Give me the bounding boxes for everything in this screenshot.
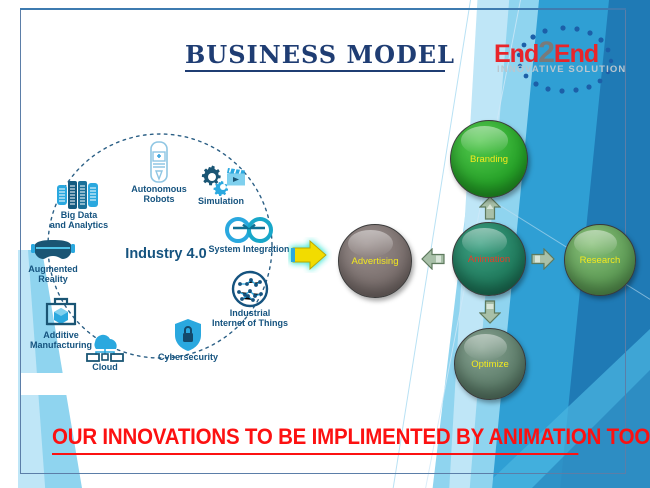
- footer-banner: OUR INNOVATIONS TO BE IMPLIMENTED BY ANI…: [52, 424, 578, 455]
- wheel-node-label: Branding: [470, 154, 508, 165]
- wheel-node-optimize[interactable]: Optimize: [454, 328, 526, 400]
- wheel-node-advertising[interactable]: Advertising: [338, 224, 412, 298]
- vr-headset-icon: [30, 236, 76, 264]
- robot-icon: [144, 140, 174, 184]
- yellow-right-arrow-icon: [288, 237, 332, 273]
- wheel-node-label: Optimize: [471, 359, 508, 370]
- node-label: Augmented Reality: [10, 265, 96, 284]
- node-label: Cloud: [76, 363, 134, 373]
- wheel-node-label: Advertising: [352, 256, 399, 267]
- wheel-node-research[interactable]: Research: [564, 224, 636, 296]
- bg-panel-right-wedge-2: [500, 300, 650, 488]
- node-simulation[interactable]: Simulation: [178, 164, 264, 207]
- slide-canvas: BUSINESS MODEL End2End INNOVATIVE SOLUTI…: [0, 0, 650, 488]
- wheel-node-animation[interactable]: Animation: [452, 222, 526, 296]
- page-title: BUSINESS MODEL: [185, 40, 445, 72]
- node-label: Cybersecurity: [150, 353, 226, 363]
- node-cloud[interactable]: Cloud: [76, 326, 134, 373]
- wheel-node-label: Research: [580, 255, 621, 266]
- arrow-right-icon: [531, 248, 555, 270]
- 3d-print-icon: [42, 296, 80, 330]
- node-big-data-analytics[interactable]: Big Data and Analytics: [27, 180, 131, 230]
- slide-top-rule: [20, 8, 626, 10]
- node-label: Industrial Internet of Things: [194, 309, 306, 328]
- arrow-down-icon: [479, 300, 501, 324]
- node-augmented-reality[interactable]: Augmented Reality: [10, 236, 96, 284]
- content-clip-mask: [21, 373, 381, 395]
- node-industrial-iot[interactable]: Industrial Internet of Things: [194, 270, 306, 328]
- node-label: Big Data and Analytics: [27, 211, 131, 230]
- cloud-icon: [82, 326, 128, 362]
- logo-tagline: INNOVATIVE SOLUTION: [497, 64, 647, 75]
- industry-40-diagram: Industry 4.0 Autonomous Robots: [10, 118, 310, 380]
- brand-logo: End2End INNOVATIVE SOLUTION: [488, 24, 638, 94]
- wheel-node-branding[interactable]: Branding: [450, 120, 528, 198]
- connector-arrow: [288, 237, 332, 273]
- node-label: Simulation: [178, 197, 264, 207]
- wheel-node-label: Animation: [468, 254, 510, 265]
- integration-arrows-icon: [223, 216, 275, 244]
- gears-clapper-icon: [195, 164, 247, 196]
- database-icon: [55, 180, 103, 210]
- arrow-up-icon: [479, 196, 501, 220]
- network-icon: [231, 270, 269, 308]
- arrow-left-icon: [421, 248, 445, 270]
